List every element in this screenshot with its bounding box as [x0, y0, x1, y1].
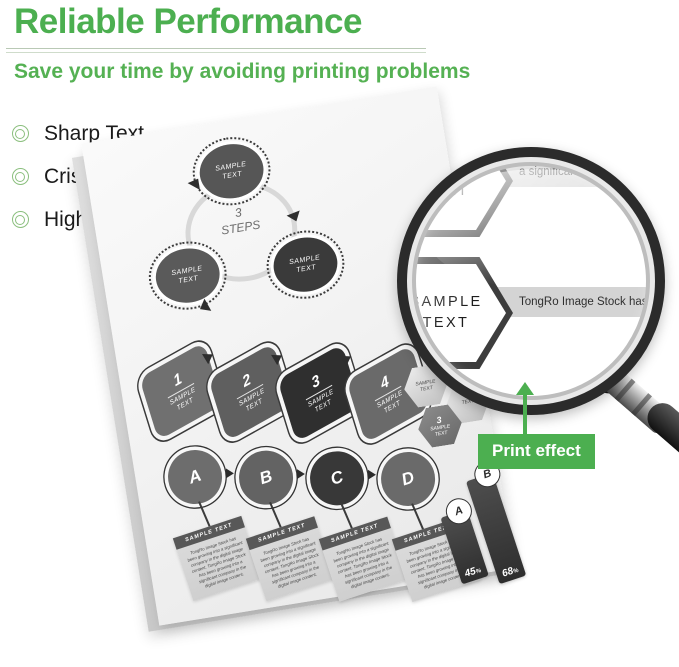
info-card: SAMPLE TEXT TongRo Image Stock has been …: [319, 517, 408, 602]
magnifying-glass: a significant company in the digital ima…: [397, 147, 665, 415]
title-divider-bottom: [6, 52, 426, 53]
info-card: SAMPLE TEXT TongRo Image Stock has been …: [246, 516, 335, 601]
cycle-node: SAMPLETEXT: [152, 244, 224, 308]
page-title: Reliable Performance: [14, 2, 362, 42]
info-card: SAMPLE TEXT TongRo Image Stock has been …: [173, 516, 262, 601]
callout-arrow-icon: [516, 382, 534, 395]
lens-rim: [397, 147, 665, 415]
chain-node: A: [161, 443, 229, 511]
chain-arrow-icon: [226, 468, 234, 478]
page-subtitle: Save your time by avoiding printing prob…: [14, 60, 470, 84]
cycle-node: SAMPLETEXT: [270, 233, 342, 297]
cycle-diagram: 3 STEPS SAMPLETEXT SAMPLETEXT SAMPLETEXT: [136, 129, 352, 337]
title-divider-top: [6, 48, 426, 49]
callout-arrow-stem: [523, 392, 527, 438]
print-effect-callout: Print effect: [478, 434, 595, 469]
cycle-node: SAMPLETEXT: [196, 139, 268, 203]
double-circle-bullet-icon: [8, 122, 32, 146]
double-circle-bullet-icon: [8, 208, 32, 232]
chain-node: B: [232, 444, 300, 512]
chain-arrow-icon: [297, 469, 305, 479]
double-circle-bullet-icon: [8, 165, 32, 189]
chain-arrow-icon: [368, 470, 376, 480]
promo-banner: Reliable Performance Save your time by a…: [0, 0, 679, 667]
